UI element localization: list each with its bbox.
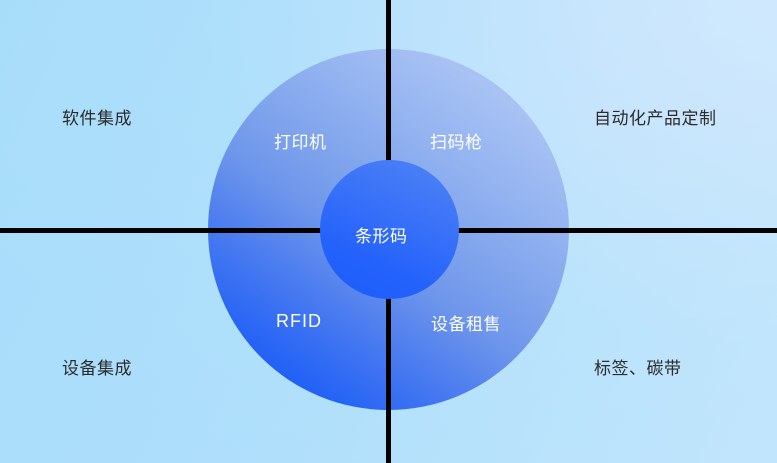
core-label-barcode: 条形码 <box>355 222 408 247</box>
ring-label-equipment-rental: 设备租售 <box>431 310 501 335</box>
outer-label-labels-and-ribbons: 标签、碳带 <box>594 354 682 379</box>
ring-label-scanner: 扫码枪 <box>430 128 483 153</box>
ring-label-printer: 打印机 <box>274 128 327 153</box>
ring-label-rfid: RFID <box>276 311 322 332</box>
diagram-canvas: 条形码 打印机 扫码枪 RFID 设备租售 软件集成 自动化产品定制 设备集成 … <box>0 0 777 463</box>
outer-label-software-integration: 软件集成 <box>62 104 132 129</box>
outer-label-automation-product-customization: 自动化产品定制 <box>594 104 717 129</box>
outer-label-device-integration: 设备集成 <box>62 354 132 379</box>
